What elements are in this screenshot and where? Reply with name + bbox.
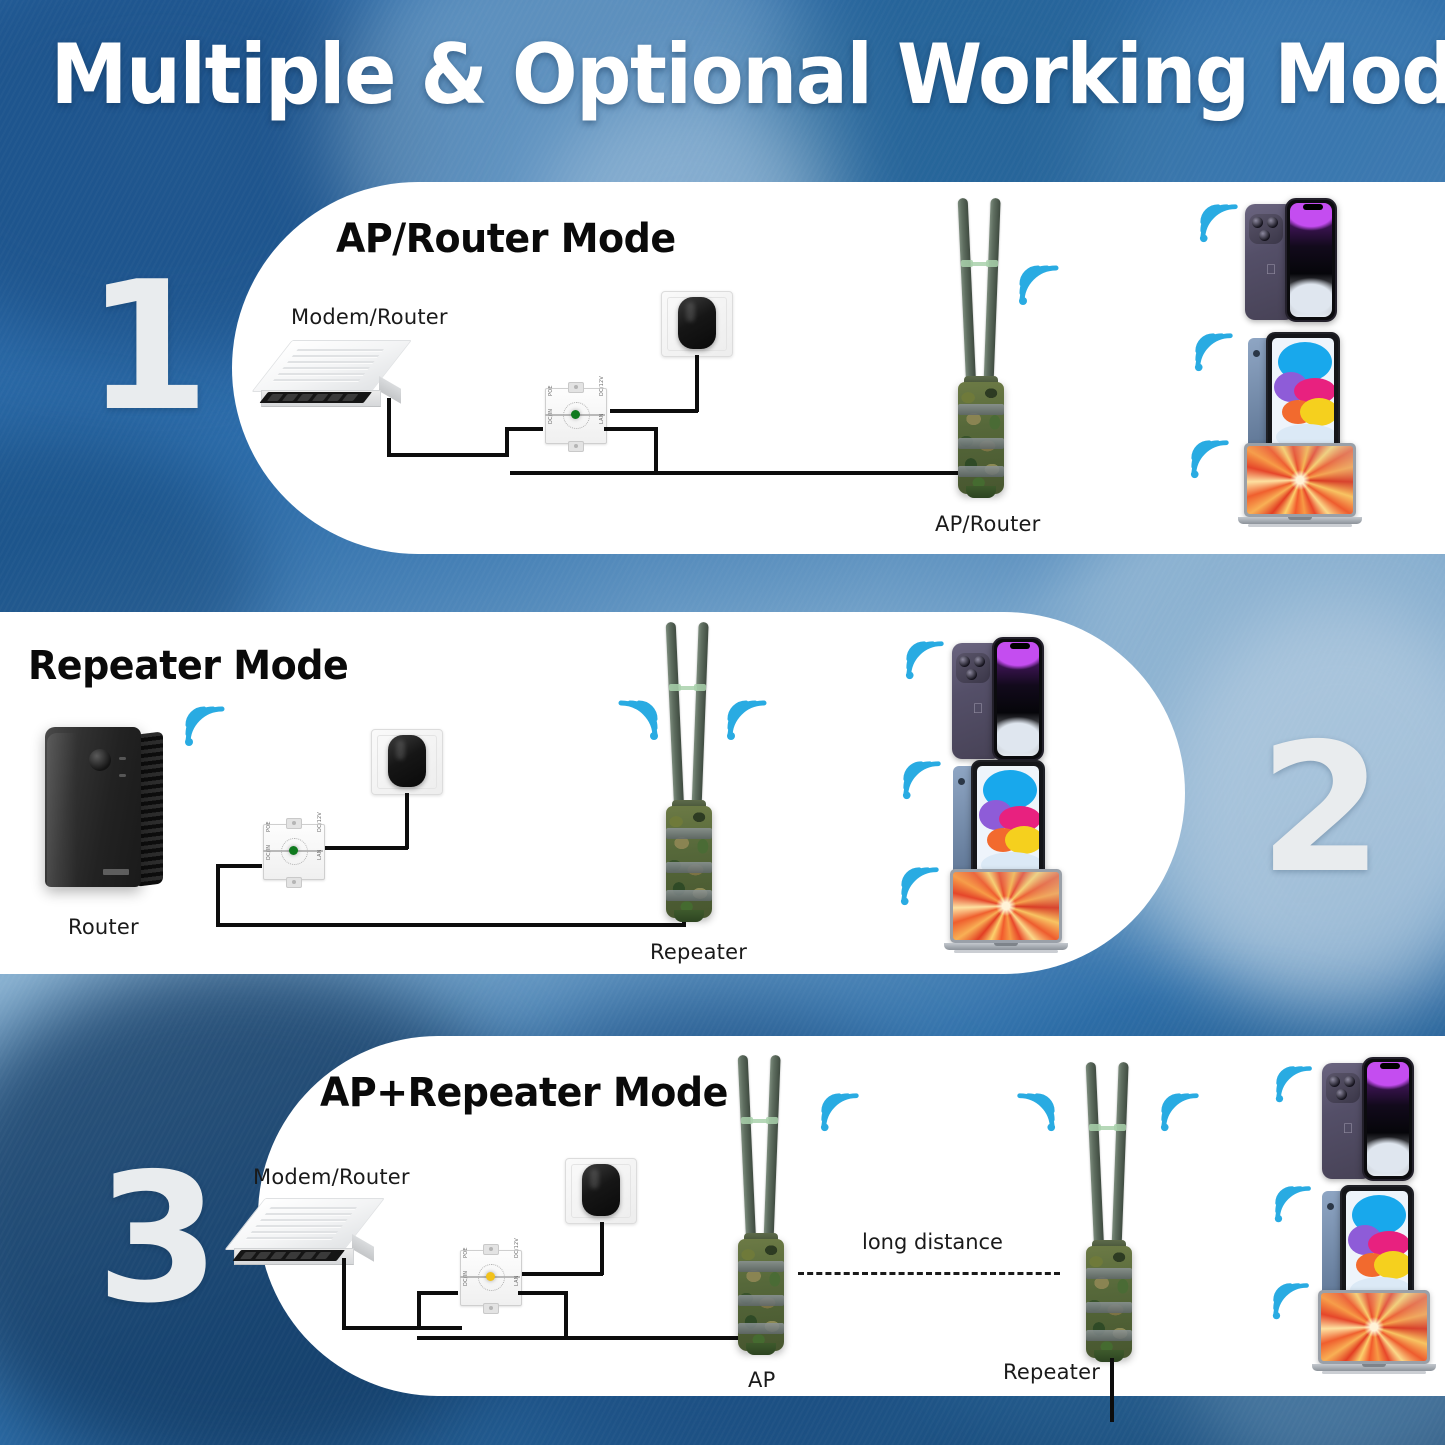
cable-modem-right-3: [342, 1326, 462, 1330]
cable-socket-to-poe-h-3: [515, 1272, 603, 1276]
wall-socket-icon: [371, 729, 443, 795]
cable-socket-to-poe-h: [610, 409, 698, 413]
wifi-signal-icon: [818, 1090, 864, 1134]
poe-port-label: LAN: [317, 849, 323, 860]
cable-poe-out-2: [216, 864, 262, 868]
cable-modem-right: [387, 453, 509, 457]
cable-poe-down-2: [216, 864, 220, 927]
outdoor-access-point-icon: [940, 198, 1024, 498]
ipad-icon: [1248, 332, 1340, 456]
wifi-signal-icon: [182, 703, 230, 749]
laptop-icon: [1312, 1290, 1436, 1382]
cable-poe-out-down: [654, 427, 658, 475]
cable-to-ap-run: [510, 471, 978, 475]
poe-injector-icon: POE DC/12V DC/IN LAN: [255, 820, 331, 882]
cable-socket-to-poe-v: [695, 355, 699, 412]
cable-poe-lan-in-3: [417, 1291, 458, 1295]
label-modem-router-3: Modem/Router: [253, 1165, 410, 1189]
poe-injector-icon: POE DC/12V DC/IN LAN: [452, 1246, 528, 1308]
poe-port-label: LAN: [599, 413, 605, 424]
wifi-signal-icon: [1012, 1090, 1058, 1134]
cable-poe-lan-riser-3: [417, 1291, 421, 1330]
step-number-1: 1: [86, 258, 210, 436]
poe-port-label: POE: [266, 821, 272, 832]
iphone-icon: : [952, 637, 1044, 761]
page-title: Multiple & Optional Working Modes: [51, 26, 1395, 123]
label-ap-3: AP: [748, 1368, 775, 1392]
panel-title-1: AP/Router Mode: [336, 216, 676, 262]
step-number-2: 2: [1259, 720, 1383, 898]
cable-modem-down-3: [342, 1258, 346, 1330]
wifi-signal-icon: [724, 697, 772, 743]
wifi-signal-icon: [1192, 330, 1238, 374]
wifi-signal-icon: [1270, 1280, 1314, 1322]
modem-router-icon: [265, 1198, 393, 1276]
cable-poe-out: [604, 427, 658, 431]
wifi-signal-icon: [1272, 1183, 1316, 1225]
cable-repeater-down-3: [1110, 1358, 1114, 1422]
wifi-signal-icon: [1016, 262, 1064, 308]
label-repeater-3: Repeater: [1003, 1360, 1100, 1384]
cable-modem-down: [387, 398, 391, 457]
wall-socket-icon: [565, 1158, 637, 1224]
laptop-icon: [1238, 443, 1362, 535]
wifi-signal-icon: [898, 864, 944, 908]
poe-port-label: DC/IN: [266, 845, 272, 860]
poe-injector-icon: POE DC/12V DC/IN LAN: [537, 384, 613, 446]
poe-port-label: LAN: [514, 1275, 520, 1286]
poe-port-label: DC/IN: [548, 409, 554, 424]
label-repeater-2: Repeater: [650, 940, 747, 964]
cable-poe-out-down-3: [564, 1291, 568, 1340]
panel-title-3: AP+Repeater Mode: [320, 1070, 728, 1116]
long-distance-dashed-line: [798, 1272, 1060, 1275]
wifi-signal-icon: [900, 758, 946, 802]
long-distance-label: long distance: [862, 1230, 1003, 1254]
iphone-icon: : [1322, 1057, 1414, 1181]
label-ap-router-1: AP/Router: [935, 512, 1041, 536]
label-modem-router-1: Modem/Router: [291, 305, 448, 329]
poe-port-label: DC/12V: [599, 376, 605, 396]
cable-to-poe-lan: [505, 427, 509, 455]
mesh-router-icon: [45, 723, 173, 893]
cable-socket-to-poe-v-2: [405, 793, 409, 849]
panel-title-2: Repeater Mode: [28, 643, 348, 689]
label-router-2: Router: [68, 915, 139, 939]
outdoor-access-point-icon: [648, 622, 732, 922]
laptop-icon: [944, 869, 1068, 961]
outdoor-access-point-icon: [720, 1055, 804, 1355]
ipad-icon: [953, 760, 1045, 884]
modem-router-icon: [292, 340, 420, 418]
poe-port-label: DC/IN: [463, 1271, 469, 1286]
wifi-signal-icon: [1197, 201, 1243, 245]
wifi-signal-icon: [613, 697, 661, 743]
poe-port-label: DC/12V: [514, 1238, 520, 1258]
cable-poe-lan-in: [505, 427, 543, 431]
iphone-icon: : [1245, 198, 1337, 322]
poe-port-label: POE: [463, 1247, 469, 1258]
cable-to-ap-run-3: [417, 1336, 757, 1340]
poe-port-label: DC/12V: [317, 812, 323, 832]
outdoor-access-point-icon: [1068, 1062, 1152, 1362]
step-number-3: 3: [96, 1150, 220, 1328]
cable-socket-to-poe-v-3: [600, 1222, 604, 1275]
cable-to-repeater-run-2: [216, 923, 686, 927]
wall-socket-icon: [661, 291, 733, 357]
poe-port-label: POE: [548, 385, 554, 396]
cable-poe-out-3: [518, 1291, 568, 1295]
wifi-signal-icon: [1158, 1090, 1204, 1134]
cable-socket-to-poe-h-2: [318, 846, 408, 850]
infographic-canvas: Multiple & Optional Working Modes 1 AP/R…: [0, 0, 1445, 1445]
wifi-signal-icon: [1188, 437, 1234, 481]
wifi-signal-icon: [1273, 1063, 1317, 1105]
wifi-signal-icon: [903, 638, 949, 682]
